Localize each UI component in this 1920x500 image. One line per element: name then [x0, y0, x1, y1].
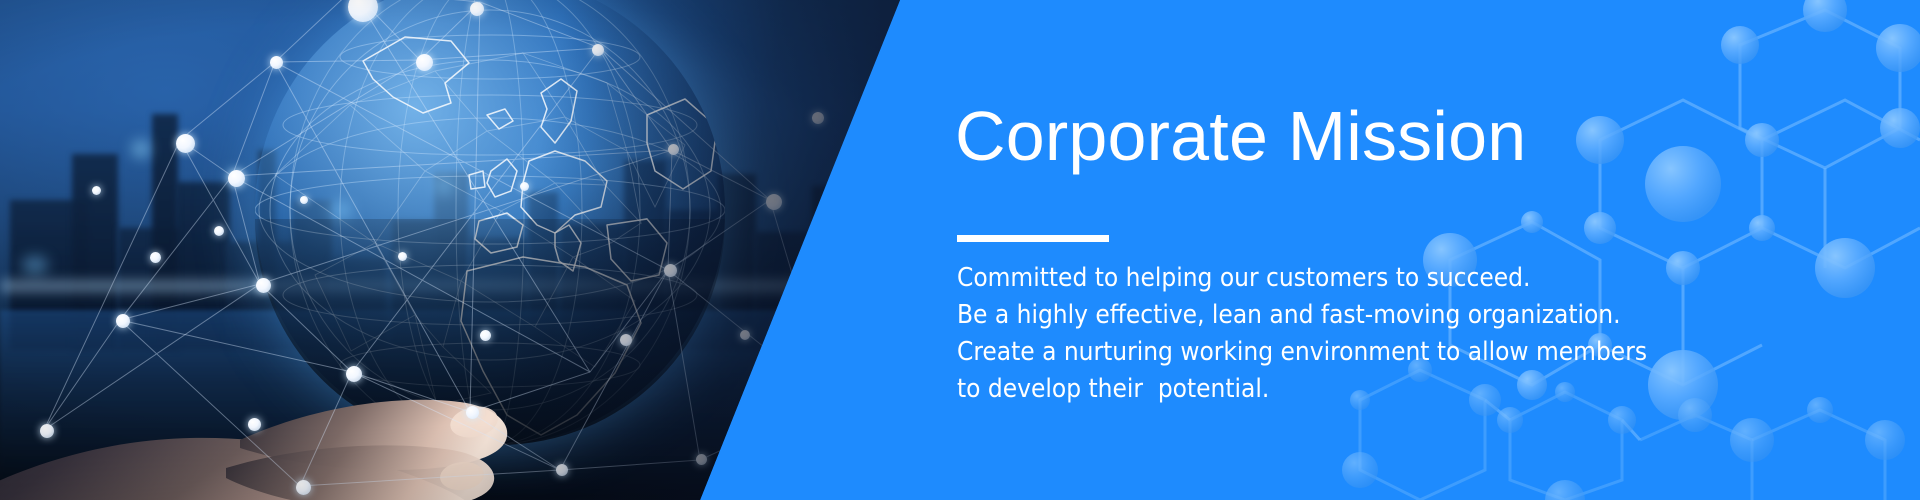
- mission-line-1: Committed to helping our customers to su…: [957, 260, 1697, 297]
- mission-line-3: Create a nurturing working environment t…: [957, 334, 1697, 371]
- title-divider: [957, 235, 1109, 242]
- mission-line-4: to develop their potential.: [957, 371, 1697, 408]
- page-title: Corporate Mission: [955, 96, 1526, 176]
- mission-content: Corporate Mission Committed to helping o…: [955, 0, 1715, 500]
- mission-line-2: Be a highly effective, lean and fast-mov…: [957, 297, 1697, 334]
- mission-statement: Committed to helping our customers to su…: [957, 260, 1697, 408]
- corporate-mission-banner: Corporate Mission Committed to helping o…: [0, 0, 1920, 500]
